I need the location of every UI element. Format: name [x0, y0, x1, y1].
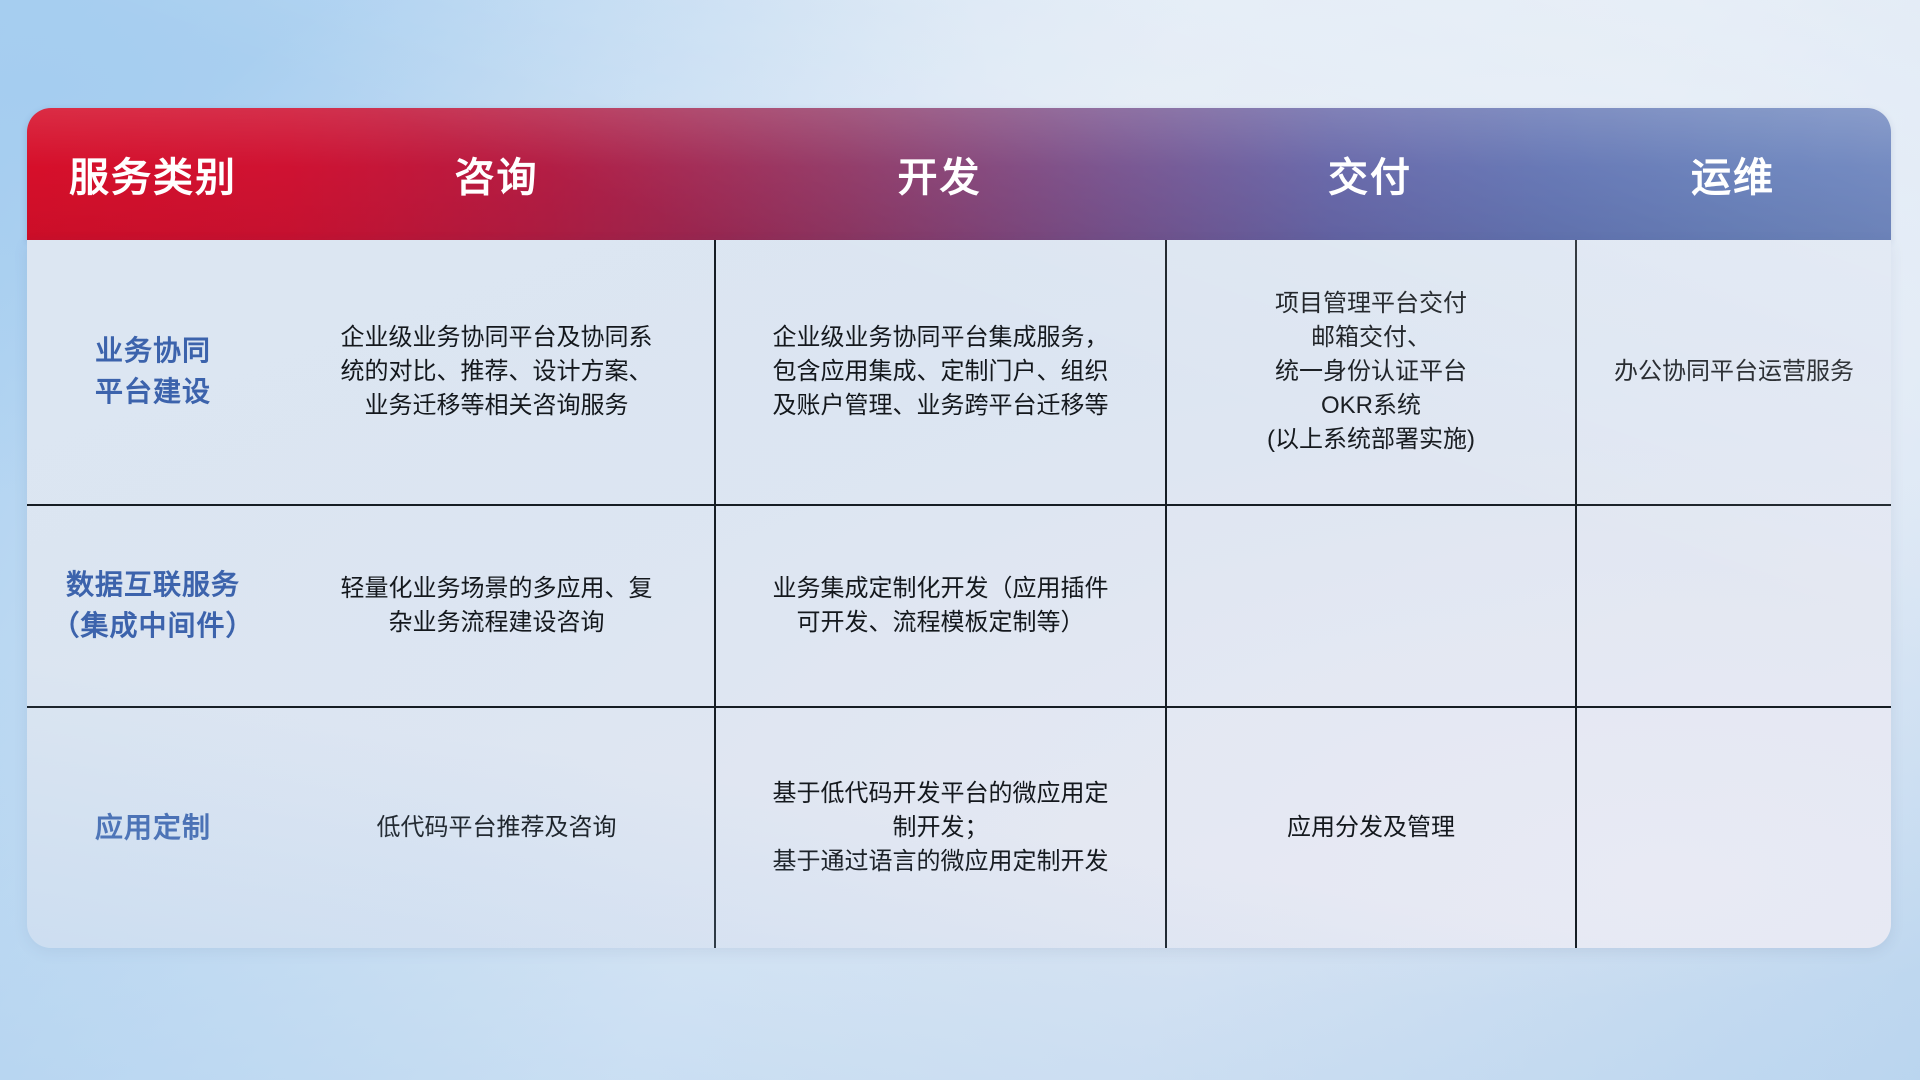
cell-consulting-3: 低代码平台推荐及咨询 [279, 708, 714, 948]
cell-category-3: 应用定制 [27, 708, 279, 948]
column-header-delivery: 交付 [1165, 145, 1575, 203]
cell-development-2: 业务集成定制化开发（应用插件 可开发、流程模板定制等） [714, 506, 1165, 706]
cell-development-3: 基于低代码开发平台的微应用定 制开发； 基于通过语言的微应用定制开发 [714, 708, 1165, 948]
cell-consulting-1: 企业级业务协同平台及协同系 统的对比、推荐、设计方案、 业务迁移等相关咨询服务 [279, 240, 714, 504]
cell-development-1: 企业级业务协同平台集成服务， 包含应用集成、定制门户、组织 及账户管理、业务跨平… [714, 240, 1165, 504]
cell-delivery-1: 项目管理平台交付 邮箱交付、 统一身份认证平台 OKR系统 (以上系统部署实施) [1165, 240, 1575, 504]
cell-consulting-2: 轻量化业务场景的多应用、复 杂业务流程建设咨询 [279, 506, 714, 706]
cell-operations-3 [1575, 708, 1891, 948]
column-header-consulting: 咨询 [279, 145, 714, 203]
table-header-row: 服务类别 咨询 开发 交付 运维 [27, 108, 1891, 240]
table-body: 业务协同 平台建设 企业级业务协同平台及协同系 统的对比、推荐、设计方案、 业务… [27, 240, 1891, 948]
cell-delivery-2 [1165, 506, 1575, 706]
table-row: 业务协同 平台建设 企业级业务协同平台及协同系 统的对比、推荐、设计方案、 业务… [27, 240, 1891, 506]
cell-operations-2 [1575, 506, 1891, 706]
cell-delivery-3: 应用分发及管理 [1165, 708, 1575, 948]
table-row: 数据互联服务 （集成中间件） 轻量化业务场景的多应用、复 杂业务流程建设咨询 业… [27, 506, 1891, 708]
column-header-category: 服务类别 [27, 145, 279, 203]
cell-category-2: 数据互联服务 （集成中间件） [27, 506, 279, 706]
service-category-table: 服务类别 咨询 开发 交付 运维 业务协同 平台建设 企业级业务协同平台及协同系… [27, 108, 1891, 948]
column-header-development: 开发 [714, 145, 1165, 203]
column-header-operations: 运维 [1575, 145, 1891, 203]
cell-operations-1: 办公协同平台运营服务 [1575, 240, 1891, 504]
table-row: 应用定制 低代码平台推荐及咨询 基于低代码开发平台的微应用定 制开发； 基于通过… [27, 708, 1891, 948]
cell-category-1: 业务协同 平台建设 [27, 240, 279, 504]
slide-canvas: 服务类别 咨询 开发 交付 运维 业务协同 平台建设 企业级业务协同平台及协同系… [0, 0, 1920, 1080]
